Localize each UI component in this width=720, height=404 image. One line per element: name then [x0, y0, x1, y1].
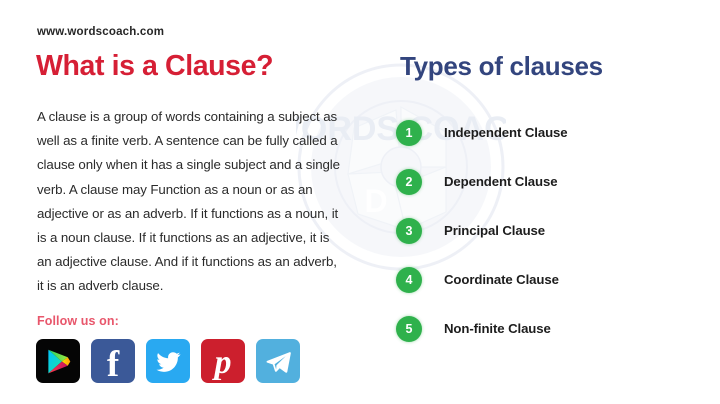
pinterest-icon[interactable]: p	[201, 339, 245, 383]
clause-type-label: Principal Clause	[444, 223, 545, 238]
page-title: What is a Clause?	[36, 50, 273, 83]
types-heading: Types of clauses	[400, 51, 603, 82]
clause-type-label: Non-finite Clause	[444, 321, 551, 336]
watermark-letter: D	[364, 183, 387, 219]
list-item[interactable]: 3 Principal Clause	[396, 206, 568, 255]
clause-type-label: Dependent Clause	[444, 174, 557, 189]
clause-types-list: 1 Independent Clause 2 Dependent Clause …	[396, 108, 568, 353]
twitter-icon[interactable]	[146, 339, 190, 383]
list-item[interactable]: 4 Coordinate Clause	[396, 255, 568, 304]
facebook-icon[interactable]: f	[91, 339, 135, 383]
telegram-icon[interactable]	[256, 339, 300, 383]
infographic-canvas: WORDS COACH D www.wordscoach.com What is…	[0, 0, 720, 404]
pinterest-glyph: p	[215, 346, 232, 380]
clause-type-label: Independent Clause	[444, 125, 568, 140]
follow-us-label: Follow us on:	[37, 314, 119, 328]
clause-type-label: Coordinate Clause	[444, 272, 559, 287]
number-badge: 3	[396, 218, 422, 244]
number-badge: 5	[396, 316, 422, 342]
site-url: www.wordscoach.com	[37, 26, 164, 38]
google-play-icon[interactable]	[36, 339, 80, 383]
number-badge: 1	[396, 120, 422, 146]
number-badge: 2	[396, 169, 422, 195]
list-item[interactable]: 1 Independent Clause	[396, 108, 568, 157]
definition-paragraph: A clause is a group of words containing …	[37, 105, 342, 299]
list-item[interactable]: 2 Dependent Clause	[396, 157, 568, 206]
facebook-glyph: f	[107, 346, 119, 383]
number-badge: 4	[396, 267, 422, 293]
social-links-row: f p	[36, 339, 300, 383]
list-item[interactable]: 5 Non-finite Clause	[396, 304, 568, 353]
